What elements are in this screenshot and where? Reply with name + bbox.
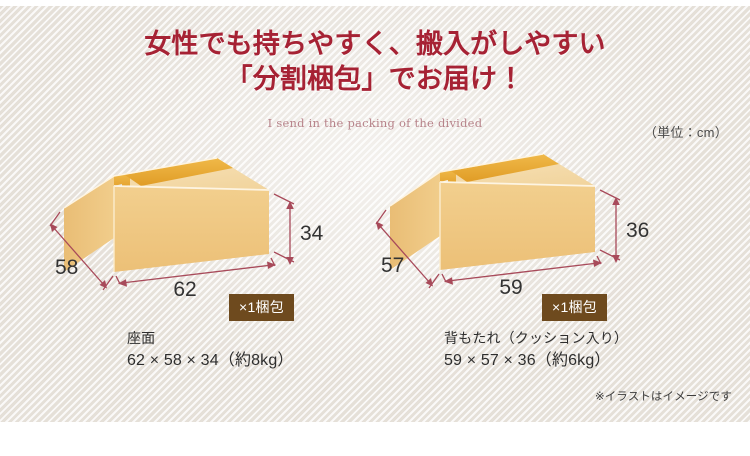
package-caption: 座面 62 × 58 × 34（約8kg） bbox=[127, 328, 294, 373]
infographic-canvas: 女性でも持ちやすく、搬入がしやすい 「分割梱包」でお届け！ I send in … bbox=[0, 0, 750, 456]
dimension-width-label: 62 bbox=[173, 278, 196, 296]
package-group-backrest: 36 59 57 ×1梱包 背もたれ（クッション入り） 59 × 57 × 36 bbox=[372, 148, 702, 388]
package-caption: 背もたれ（クッション入り） 59 × 57 × 36（約6kg） bbox=[444, 328, 628, 373]
unit-note: （単位：cm） bbox=[644, 122, 728, 141]
dimension-height bbox=[274, 194, 294, 265]
package-name: 背もたれ（クッション入り） bbox=[444, 328, 628, 349]
package-group-seat: 34 62 58 ×1梱包 座面 62 × 58 × bbox=[42, 148, 372, 388]
carton-front-face bbox=[114, 186, 269, 272]
package-name: 座面 bbox=[127, 328, 294, 349]
dimension-depth-label: 57 bbox=[381, 254, 404, 277]
dimension-width-label: 59 bbox=[499, 276, 522, 296]
package-count-badge: ×1梱包 bbox=[229, 294, 294, 321]
carton-illustration-seat: 34 62 58 bbox=[42, 148, 372, 296]
dimension-height-label: 34 bbox=[300, 222, 324, 245]
package-dimensions: 59 × 57 × 36（約6kg） bbox=[444, 349, 628, 373]
page-title: 女性でも持ちやすく、搬入がしやすい 「分割梱包」でお届け！ bbox=[0, 28, 750, 97]
dimension-height bbox=[600, 190, 620, 263]
package-dimensions: 62 × 58 × 34（約8kg） bbox=[127, 349, 294, 373]
illustration-disclaimer: ※イラストはイメージです bbox=[595, 388, 732, 404]
title-line-2: 「分割梱包」でお届け！ bbox=[0, 63, 750, 98]
subtitle-english: I send in the packing of the divided bbox=[0, 116, 750, 130]
carton-front-face bbox=[440, 182, 595, 270]
dimension-height-label: 36 bbox=[626, 219, 649, 242]
package-count-badge: ×1梱包 bbox=[542, 294, 607, 321]
title-line-1: 女性でも持ちやすく、搬入がしやすい bbox=[0, 28, 750, 63]
carton-illustration-backrest: 36 59 57 bbox=[372, 148, 702, 296]
dimension-depth-label: 58 bbox=[55, 256, 78, 279]
